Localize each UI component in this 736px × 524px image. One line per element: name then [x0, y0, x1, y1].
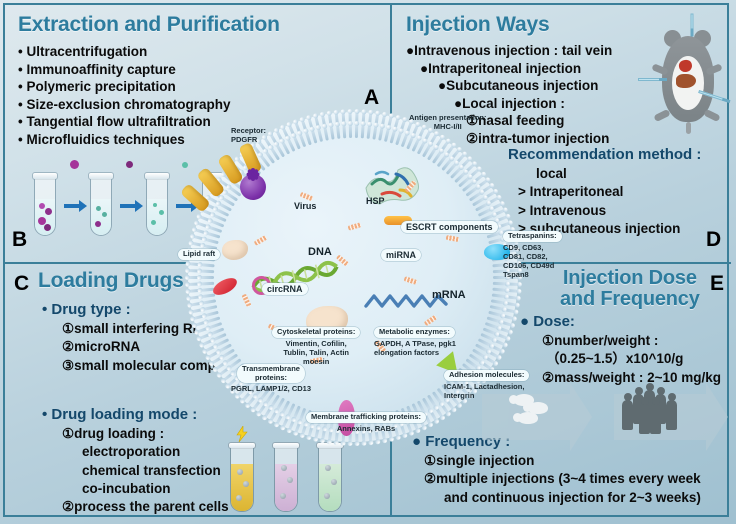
drug-loading-item: chemical transfection [42, 462, 229, 480]
panel-letter-d: D [706, 228, 721, 252]
phospholipid [360, 125, 364, 138]
panel-d-title: Injection Ways [406, 14, 612, 36]
tube-body [34, 179, 56, 236]
tetraspanins-head: Tetraspanins: [503, 231, 562, 242]
dose-item: ①number/weight : [520, 332, 721, 350]
panel-e-title-line1: Injection Dose [560, 268, 700, 289]
process-arrow [120, 204, 136, 208]
phospholipid [311, 130, 317, 143]
injection-way-item: ●Subcutaneous injection [406, 77, 612, 95]
tube-1 [34, 172, 56, 236]
extraction-item: • Polymeric precipitation [18, 78, 280, 96]
phospholipid [383, 128, 389, 141]
phospholipid [201, 281, 214, 285]
vial-particle [237, 469, 243, 475]
phospholipid [329, 126, 334, 139]
syringe-needle-head [691, 14, 694, 30]
drug-loading-item: ②process the parent cells [42, 498, 229, 516]
panel-letter-e: E [710, 272, 724, 296]
mouse-limb [653, 109, 670, 122]
metabolic-enzymes-label: Metabolic enzymes: GAPDH, A TPase, pgk1e… [374, 327, 456, 357]
phospholipid [201, 276, 214, 279]
phospholipid [491, 293, 504, 298]
phospholipid [201, 269, 214, 273]
phospholipid [323, 127, 328, 140]
transmembrane-proteins-label: Transmembraneproteins: PGRL, LAMP1/2, CD… [231, 364, 311, 393]
tube-body [146, 179, 168, 236]
membrane-trafficking-label: Membrane trafficking proteins: Annexins,… [306, 412, 426, 433]
process-arrow [64, 204, 80, 208]
virus-particle [240, 174, 266, 200]
injection-way-item: ●Intraperitoneal injection [406, 60, 612, 78]
phospholipid [489, 305, 502, 311]
mrna-label: mRNA [432, 289, 466, 301]
extraction-item: • Immunoaffinity capture [18, 61, 280, 79]
circrna-label: circRNA [262, 283, 308, 295]
trafficking-body: Annexins, RABs [337, 424, 395, 433]
phospholipid [395, 132, 402, 145]
tube-2 [90, 172, 112, 236]
vial-pink [274, 442, 298, 512]
adhesion-head: Adhesion molecules: [444, 370, 529, 381]
phospholipid [205, 238, 218, 244]
recommendation-item: > Intraperitoneal [508, 183, 701, 201]
vial-particle [236, 495, 242, 501]
phospholipid [378, 127, 383, 140]
phospholipid [202, 293, 215, 298]
vial-particle [243, 481, 249, 487]
phospholipid [488, 310, 501, 316]
hsp-label: HSP [366, 196, 385, 206]
dna-label: DNA [308, 246, 332, 258]
panel-b-title: Extraction and Purification [18, 14, 280, 36]
recommendation-item: local [508, 165, 701, 183]
tube-fluid [91, 199, 111, 235]
injection-way-item: ●Local injection : [406, 95, 612, 113]
vial-particle [324, 493, 330, 499]
phospholipid [207, 316, 220, 323]
vial-particle [325, 465, 331, 471]
dose-block: ● Dose: ①number/weight : （0.25~1.5）x10^1… [520, 312, 721, 387]
frequency-item: ①single injection [400, 452, 701, 470]
adhesion-molecules-label: Adhesion molecules: ICAM-1, Lactadhesion… [444, 370, 529, 400]
phospholipid [490, 299, 503, 304]
tube-3 [146, 172, 168, 236]
mouse-icon [518, 412, 538, 424]
mouse-limb [703, 109, 720, 122]
vial-particle [287, 477, 293, 483]
escrt-label: ESCRT components [401, 221, 498, 233]
panel-loading-drugs: Loading Drugs [38, 270, 184, 292]
phospholipid [207, 231, 220, 238]
mirna-label: miRNA [381, 249, 421, 261]
tetraspanins-body: CD9, CD63,CD81, CD82,CD106, CD49dTspan8 [503, 243, 554, 279]
syringe-needle-left [638, 78, 660, 81]
phospholipid [317, 128, 323, 141]
lipid-raft-label: Lipid raft [178, 249, 220, 260]
adhesion-body: ICAM-1, Lactadhesion,Intergrin [444, 382, 524, 400]
phospholipid [366, 125, 370, 138]
extraction-item: • Size-exclusion chromatography [18, 96, 280, 114]
recommendation-head: Recommendation method : [508, 145, 701, 165]
vial-body [318, 448, 342, 512]
virus-label: Virus [294, 201, 316, 211]
dose-item: （0.25~1.5）x10^10/g [520, 350, 721, 368]
phospholipid [372, 126, 377, 139]
phospholipid [205, 310, 218, 316]
vial-particle [280, 493, 286, 499]
antigen-presentation-label: Antigen presentation:MHC-I/II [409, 113, 487, 131]
cytoskeletal-head: Cytoskeletal proteins: [272, 327, 360, 338]
vial-fluid [319, 464, 341, 511]
phospholipid [348, 125, 351, 138]
panel-letter-b: B [12, 228, 27, 252]
panel-letter-a: A [364, 86, 379, 110]
figure-root: Extraction and Purification • Ultracentr… [0, 0, 736, 524]
extraction-item: • Ultracentrifugation [18, 43, 280, 61]
person-silhouette [639, 404, 650, 434]
vial-green [318, 442, 342, 512]
phospholipid [336, 125, 340, 138]
tube-body [90, 179, 112, 236]
mouse-tail [686, 122, 691, 134]
phospholipid [204, 305, 217, 311]
vial-body [274, 448, 298, 512]
phospholipid [354, 125, 357, 138]
mouse-illustration [644, 26, 730, 134]
phospholipid [201, 263, 214, 267]
phospholipid [202, 299, 215, 304]
vial-fluid [275, 464, 297, 511]
phospholipid [304, 132, 311, 145]
trafficking-head: Membrane trafficking proteins: [306, 412, 426, 423]
phospholipid [492, 281, 505, 285]
vial-particle [281, 465, 287, 471]
cytoskeletal-proteins-label: Cytoskeletal proteins: Vimentin, Cofilin… [272, 327, 360, 366]
drug-loading-item: electroporation [42, 443, 229, 461]
phospholipid [492, 287, 505, 291]
panel-e-title-line2: and Frequency [560, 289, 700, 310]
vial-particle [331, 479, 337, 485]
panel-letter-c: C [14, 272, 29, 296]
receptor-label: Receptor:PDGFR [231, 126, 266, 144]
transmembrane-body: PGRL, LAMP1/2, CD13 [231, 384, 311, 393]
frequency-item: and continuous injection for 2~3 weeks) [400, 489, 701, 507]
dose-head: ● Dose: [520, 312, 721, 332]
person-silhouette [622, 400, 633, 430]
phospholipid [488, 238, 501, 244]
drug-loading-vials [228, 436, 368, 516]
phospholipid [342, 125, 346, 138]
person-silhouette [666, 400, 677, 430]
dose-item: ②mass/weight : 2~10 mg/kg [520, 369, 721, 387]
phospholipid [389, 130, 395, 143]
panel-injection-dose: Injection Dose and Frequency [560, 268, 700, 310]
tube-fluid [147, 199, 167, 235]
panel-c-title: Loading Drugs [38, 270, 184, 292]
metabolic-body: GAPDH, A TPase, pgk1elongation factors [374, 339, 456, 357]
tetraspanins-label: Tetraspanins: CD9, CD63,CD81, CD82,CD106… [503, 231, 562, 279]
phospholipid [486, 316, 499, 323]
vial-body [230, 448, 254, 512]
drug-loading-item: co-incubation [42, 480, 229, 498]
person-silhouette [650, 404, 661, 434]
cytoskeletal-body: Vimentin, Cofilin,Tublin, Talin, Actinmo… [283, 339, 349, 366]
vial-yellow [230, 442, 254, 512]
recommendation-item: > Intravenous [508, 202, 701, 220]
metabolic-head: Metabolic enzymes: [374, 327, 455, 338]
injection-way-item: ●Intravenous injection : tail vein [406, 42, 612, 60]
transmembrane-head: Transmembraneproteins: [237, 364, 305, 383]
recommendation-method-block: Recommendation method : local > Intraper… [508, 145, 701, 238]
frequency-item: ②multiple injections (3~4 times every we… [400, 470, 701, 488]
